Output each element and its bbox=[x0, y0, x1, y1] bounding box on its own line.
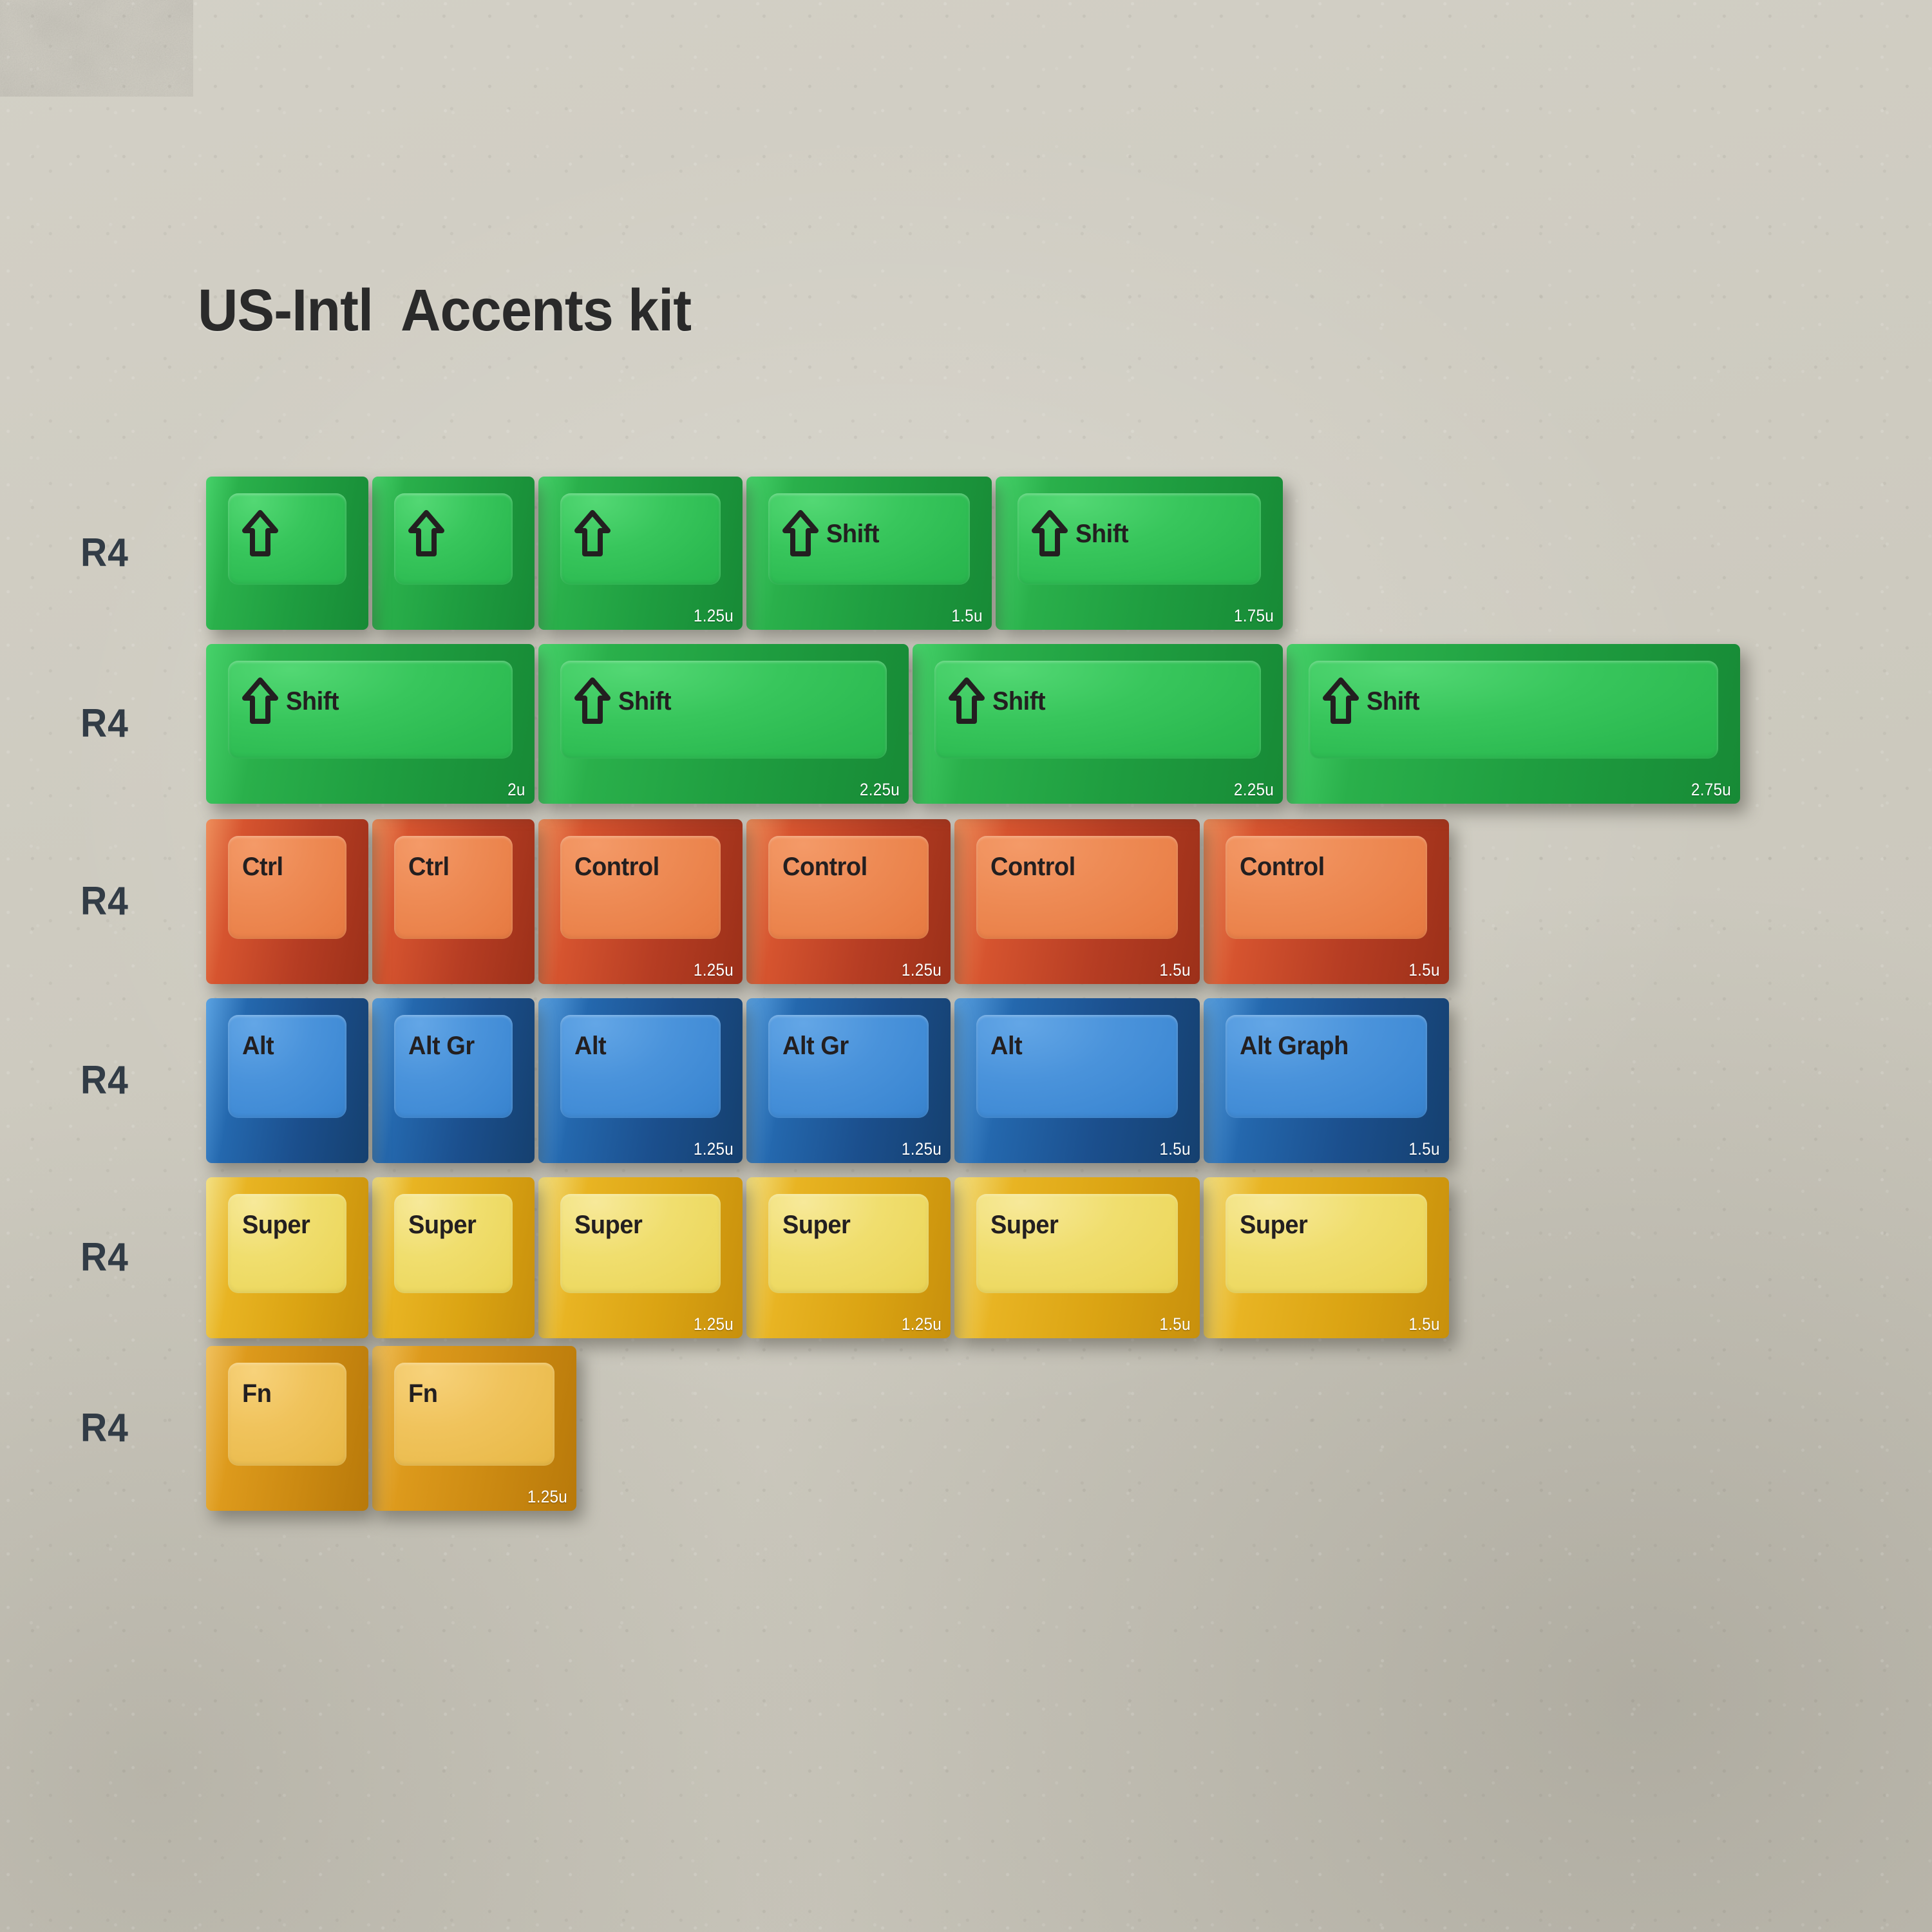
keycap-size-label: 1.5u bbox=[1160, 1139, 1191, 1159]
keycap-size-label: 1.5u bbox=[1160, 960, 1191, 980]
keycap-size-label: 2.25u bbox=[1234, 780, 1274, 800]
keycap-r4-5[interactable]: Super1.5u bbox=[1204, 1177, 1449, 1338]
keycap-r4-2[interactable]: Super1.25u bbox=[538, 1177, 743, 1338]
keycap-top-surface bbox=[976, 1015, 1178, 1118]
keycap-top-surface bbox=[560, 1194, 721, 1293]
keycap-top-surface bbox=[1226, 1015, 1427, 1118]
keycap-top-surface bbox=[1226, 1194, 1427, 1293]
keycap-r2-4[interactable]: Control1.5u bbox=[954, 819, 1200, 984]
keycap-size-label: 1.25u bbox=[694, 606, 734, 626]
keycap-size-label: 2u bbox=[507, 780, 526, 800]
keycap-r5-0[interactable]: Fn bbox=[206, 1346, 368, 1511]
row-label-5: R4 bbox=[80, 1405, 129, 1451]
keycap-r0-0[interactable] bbox=[206, 477, 368, 630]
keycap-top-surface bbox=[394, 836, 513, 939]
keycap-r4-4[interactable]: Super1.5u bbox=[954, 1177, 1200, 1338]
keycap-r2-5[interactable]: Control1.5u bbox=[1204, 819, 1449, 984]
keycap-top-surface bbox=[394, 1363, 554, 1466]
keycap-size-label: 1.25u bbox=[902, 1314, 942, 1334]
keycap-r1-1[interactable]: Shift2.25u bbox=[538, 644, 909, 804]
keycap-r4-0[interactable]: Super bbox=[206, 1177, 368, 1338]
keycap-top-surface bbox=[768, 1194, 929, 1293]
keycap-top-surface bbox=[228, 1194, 346, 1293]
keycap-r2-0[interactable]: Ctrl bbox=[206, 819, 368, 984]
keycap-size-label: 1.25u bbox=[694, 1314, 734, 1334]
keycap-r3-3[interactable]: Alt Gr1.25u bbox=[746, 998, 951, 1163]
keycap-r3-1[interactable]: Alt Gr bbox=[372, 998, 535, 1163]
keycap-r3-5[interactable]: Alt Graph1.5u bbox=[1204, 998, 1449, 1163]
keycap-r1-2[interactable]: Shift2.25u bbox=[913, 644, 1283, 804]
keycap-r5-1[interactable]: Fn1.25u bbox=[372, 1346, 576, 1511]
keycap-top-surface bbox=[560, 836, 721, 939]
keycap-r4-1[interactable]: Super bbox=[372, 1177, 535, 1338]
keycap-top-surface bbox=[228, 1363, 346, 1466]
keycap-top-surface bbox=[934, 661, 1261, 759]
keycap-r4-3[interactable]: Super1.25u bbox=[746, 1177, 951, 1338]
keycap-top-surface bbox=[228, 1015, 346, 1118]
keycap-r2-1[interactable]: Ctrl bbox=[372, 819, 535, 984]
keycap-top-surface bbox=[228, 493, 346, 585]
row-label-1: R4 bbox=[80, 701, 129, 746]
keycap-top-surface bbox=[768, 836, 929, 939]
keycap-size-label: 1.5u bbox=[1160, 1314, 1191, 1334]
keycap-r0-4[interactable]: Shift1.75u bbox=[996, 477, 1283, 630]
keycap-r0-3[interactable]: Shift1.5u bbox=[746, 477, 992, 630]
row-label-3: R4 bbox=[80, 1057, 129, 1103]
keycap-r1-0[interactable]: Shift2u bbox=[206, 644, 535, 804]
keycap-top-surface bbox=[228, 836, 346, 939]
keycap-size-label: 2.75u bbox=[1691, 780, 1731, 800]
keycap-r1-3[interactable]: Shift2.75u bbox=[1287, 644, 1740, 804]
keycap-r0-1[interactable] bbox=[372, 477, 535, 630]
keycap-size-label: 1.25u bbox=[694, 960, 734, 980]
keycap-size-label: 1.5u bbox=[1409, 1139, 1440, 1159]
keycap-top-surface bbox=[1309, 661, 1718, 759]
keycap-top-surface bbox=[394, 493, 513, 585]
keycap-r3-0[interactable]: Alt bbox=[206, 998, 368, 1163]
keycap-size-label: 1.25u bbox=[902, 1139, 942, 1159]
keycap-r0-2[interactable]: 1.25u bbox=[538, 477, 743, 630]
keycap-top-surface bbox=[560, 661, 887, 759]
keycap-top-surface bbox=[228, 661, 513, 759]
keycap-r3-2[interactable]: Alt1.25u bbox=[538, 998, 743, 1163]
keycap-size-label: 1.25u bbox=[527, 1487, 567, 1507]
keycap-top-surface bbox=[1226, 836, 1427, 939]
keycap-r2-2[interactable]: Control1.25u bbox=[538, 819, 743, 984]
keycap-top-surface bbox=[1018, 493, 1261, 585]
keycap-size-label: 1.75u bbox=[1234, 606, 1274, 626]
keycap-size-label: 1.5u bbox=[1409, 1314, 1440, 1334]
keycap-top-surface bbox=[394, 1194, 513, 1293]
keycap-size-label: 1.5u bbox=[1409, 960, 1440, 980]
keycap-size-label: 1.5u bbox=[952, 606, 983, 626]
row-label-4: R4 bbox=[80, 1235, 129, 1280]
keycap-top-surface bbox=[976, 836, 1178, 939]
row-label-0: R4 bbox=[80, 530, 129, 576]
keycap-size-label: 1.25u bbox=[694, 1139, 734, 1159]
keycap-r2-3[interactable]: Control1.25u bbox=[746, 819, 951, 984]
keycap-top-surface bbox=[394, 1015, 513, 1118]
keycap-top-surface bbox=[768, 493, 970, 585]
keycap-top-surface bbox=[560, 1015, 721, 1118]
keycap-top-surface bbox=[976, 1194, 1178, 1293]
row-label-2: R4 bbox=[80, 878, 129, 924]
keycap-top-surface bbox=[560, 493, 721, 585]
keycap-size-label: 1.25u bbox=[902, 960, 942, 980]
keycap-size-label: 2.25u bbox=[860, 780, 900, 800]
keycap-board: R4 1.25u Shift1.5u Shift1.75uR4 Shift2u … bbox=[0, 0, 1932, 1932]
keycap-top-surface bbox=[768, 1015, 929, 1118]
keycap-r3-4[interactable]: Alt1.5u bbox=[954, 998, 1200, 1163]
